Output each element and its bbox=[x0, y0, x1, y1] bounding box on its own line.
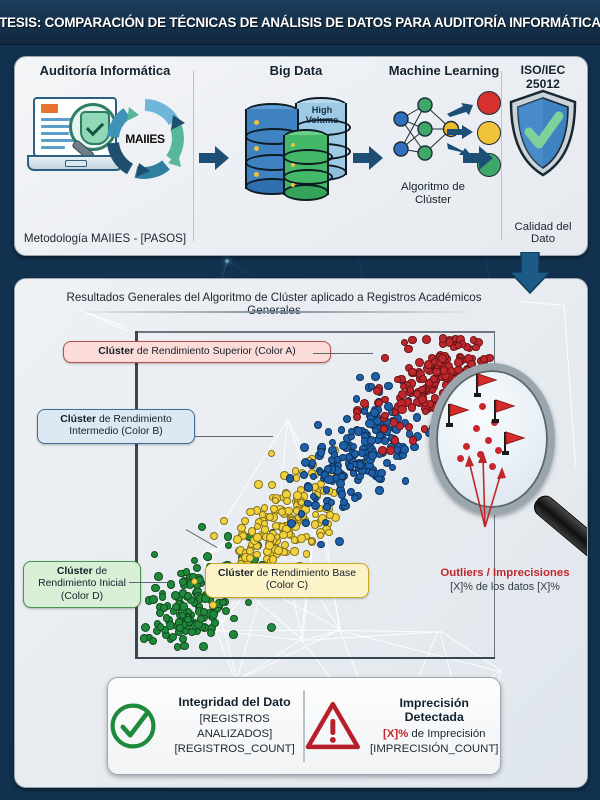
scatter-point bbox=[279, 531, 288, 540]
scatter-point bbox=[154, 572, 163, 581]
outliers-title: Outliers / Imprecisiones bbox=[425, 567, 585, 579]
scatter-point bbox=[409, 436, 417, 444]
scatter-point bbox=[375, 399, 383, 407]
scatter-point bbox=[404, 345, 413, 354]
process-flow-panel: Auditoría Informática bbox=[14, 56, 588, 256]
scatter-point bbox=[375, 486, 384, 495]
scatter-point bbox=[356, 473, 363, 480]
right-arrow-icon bbox=[463, 145, 493, 171]
scatter-point bbox=[220, 517, 228, 525]
results-panel: Resultados Generales del Algoritmo de Cl… bbox=[14, 278, 588, 788]
scatter-point bbox=[317, 448, 325, 456]
scatter-point bbox=[338, 473, 346, 481]
scatter-point bbox=[310, 493, 317, 500]
plot-axis-x bbox=[135, 657, 495, 660]
scatter-point bbox=[381, 354, 389, 362]
scatter-point bbox=[278, 508, 286, 516]
scatter-point bbox=[472, 344, 479, 351]
scatter-point bbox=[246, 508, 254, 516]
callout-bold: Clúster bbox=[60, 414, 96, 425]
flow-step-bigdata: Big Data High Volume bbox=[231, 63, 361, 249]
scatter-point bbox=[310, 473, 317, 480]
scatter-point bbox=[371, 372, 380, 381]
scatter-point bbox=[151, 584, 159, 592]
scatter-point bbox=[140, 634, 149, 643]
right-arrow-icon bbox=[353, 145, 383, 171]
callout-leader-b bbox=[195, 436, 273, 437]
scatter-point bbox=[356, 374, 364, 382]
scatter-point bbox=[198, 523, 206, 531]
scatter-point bbox=[171, 591, 180, 600]
scatter-point bbox=[179, 578, 187, 586]
integrity-title: Integridad del Dato bbox=[166, 695, 303, 709]
scatter-point bbox=[358, 449, 366, 457]
flow-step-heading: Big Data bbox=[231, 63, 361, 78]
scatter-point bbox=[480, 355, 488, 363]
scatter-point bbox=[200, 608, 208, 616]
scatter-point bbox=[267, 623, 276, 632]
scatter-point bbox=[149, 637, 157, 645]
check-circle-icon bbox=[108, 699, 158, 753]
callout-bold: Clúster bbox=[98, 346, 134, 357]
scatter-point bbox=[230, 615, 238, 623]
scatter-point bbox=[302, 519, 310, 527]
arrow-to-yellow-icon bbox=[447, 125, 473, 139]
scatter-point bbox=[311, 501, 320, 510]
scatter-point bbox=[396, 422, 404, 430]
integrity-line1: [REGISTROS ANALIZADOS] bbox=[166, 712, 303, 742]
maiies-label: MAIIES bbox=[103, 97, 187, 181]
scatter-point bbox=[184, 616, 191, 623]
scatter-point bbox=[229, 630, 238, 639]
callout-bold: Clúster bbox=[57, 566, 93, 577]
scatter-point bbox=[254, 523, 261, 530]
imprecision-suffix: de Imprecisión bbox=[408, 728, 485, 740]
page-title-bar: TESIS: COMPARACIÓN DE TÉCNICAS DE ANÁLIS… bbox=[0, 0, 600, 45]
flow-step-heading: Auditoría Informática bbox=[21, 63, 189, 78]
scatter-point bbox=[329, 439, 337, 447]
flow-step-heading: ISO/IEC 25012 bbox=[505, 63, 581, 91]
scatter-point bbox=[405, 423, 413, 431]
scatter-point bbox=[367, 436, 376, 445]
scatter-point bbox=[172, 603, 180, 611]
callout-cluster-a: Clúster de Rendimiento Superior (Color A… bbox=[63, 341, 331, 363]
flow-step-auditoria: Auditoría Informática bbox=[21, 63, 189, 249]
scatter-point bbox=[193, 564, 201, 572]
scatter-point bbox=[303, 550, 310, 557]
scatter-point bbox=[253, 533, 262, 542]
scatter-point bbox=[343, 415, 351, 423]
scatter-point bbox=[354, 427, 363, 436]
cluster-algorithm-label: Algoritmo de Clúster bbox=[385, 181, 481, 207]
scatter-point bbox=[268, 481, 276, 489]
flow-step-heading: Machine Learning bbox=[385, 63, 503, 78]
imprecision-title: Imprecisión Detectada bbox=[368, 696, 500, 724]
scatter-point bbox=[338, 426, 346, 434]
callout-bold: Clúster bbox=[218, 568, 254, 579]
flow-divider bbox=[501, 71, 502, 241]
scatter-point bbox=[254, 480, 263, 489]
scatter-point bbox=[339, 441, 348, 450]
scatter-point bbox=[340, 498, 348, 506]
scatter-point bbox=[141, 623, 150, 632]
summary-imprecision: Imprecisión Detectada [X]% de Imprecisió… bbox=[305, 678, 500, 774]
summary-integrity: Integridad del Dato [REGISTROS ANALIZADO… bbox=[108, 678, 303, 774]
scatter-point bbox=[402, 477, 409, 484]
scatter-point bbox=[246, 554, 254, 562]
scatter-point bbox=[398, 390, 407, 399]
flow-step-caption: Calidad del Dato bbox=[505, 221, 581, 245]
scatter-point bbox=[151, 551, 158, 558]
scatter-point bbox=[283, 497, 291, 505]
scatter-point bbox=[391, 436, 400, 445]
scatter-point bbox=[261, 504, 268, 511]
scatter-point bbox=[422, 335, 431, 344]
callout-rest: de Rendimiento Superior (Color A) bbox=[134, 346, 296, 357]
maiies-cycle-icon: MAIIES bbox=[103, 97, 187, 181]
scatter-point bbox=[408, 336, 417, 345]
scatter-point bbox=[224, 532, 232, 540]
scatter-point bbox=[309, 459, 316, 466]
arrow-to-red-icon bbox=[447, 103, 473, 117]
summary-panel: Integridad del Dato [REGISTROS ANALIZADO… bbox=[107, 677, 501, 775]
scatter-point bbox=[199, 642, 208, 651]
scatter-point bbox=[274, 546, 283, 555]
scatter-point bbox=[219, 599, 226, 606]
cluster-output-yellow bbox=[477, 121, 501, 145]
scatter-point bbox=[183, 568, 190, 575]
scatter-point bbox=[245, 599, 252, 606]
results-divider bbox=[71, 311, 479, 313]
scatter-point bbox=[323, 486, 330, 493]
scatter-point bbox=[314, 421, 322, 429]
scatter-point bbox=[268, 450, 275, 457]
scatter-point bbox=[317, 541, 324, 548]
scatter-point bbox=[160, 604, 168, 612]
scatter-point bbox=[323, 503, 330, 510]
high-volume-label: High Volume bbox=[299, 105, 345, 125]
scatter-point bbox=[222, 607, 230, 615]
scatter-point bbox=[290, 547, 298, 555]
outliers-subtitle: [X]% de los datos [X]% bbox=[425, 581, 585, 593]
scatter-point bbox=[335, 537, 344, 546]
scatter-point bbox=[394, 376, 401, 383]
flow-step-caption: Metodología MAIIES - [PASOS] bbox=[21, 232, 189, 245]
scatter-point bbox=[209, 610, 218, 619]
scatter-point bbox=[384, 382, 393, 391]
scatter-point bbox=[397, 405, 406, 414]
scatter-point bbox=[353, 395, 360, 402]
scatter-point bbox=[233, 535, 242, 544]
shield-check-icon bbox=[509, 89, 577, 177]
scatter-point bbox=[300, 443, 309, 452]
scatter-point bbox=[149, 595, 158, 604]
scatter-point bbox=[353, 413, 361, 421]
scatter-point bbox=[317, 532, 324, 539]
scatter-point bbox=[211, 619, 219, 627]
scatter-point bbox=[415, 358, 424, 367]
database-stack-icon: High Volume bbox=[239, 93, 359, 205]
scatter-point bbox=[157, 623, 164, 630]
cluster-output-red bbox=[477, 91, 501, 115]
callout-rest: de Rendimiento Base (Color C) bbox=[254, 568, 356, 591]
plot-axis-top bbox=[135, 331, 495, 333]
scatter-point bbox=[339, 454, 347, 462]
scatter-point bbox=[210, 532, 219, 541]
flow-divider bbox=[193, 71, 194, 241]
callout-leader-a bbox=[313, 353, 373, 354]
plot-axis-y bbox=[135, 331, 138, 659]
scatter-point bbox=[422, 408, 429, 415]
scatter-point bbox=[325, 529, 333, 537]
scatter-point bbox=[174, 643, 181, 650]
scatter-point bbox=[272, 522, 280, 530]
infographic-root: TESIS: COMPARACIÓN DE TÉCNICAS DE ANÁLIS… bbox=[0, 0, 600, 800]
callout-leader-d bbox=[129, 582, 169, 583]
down-arrow-icon bbox=[508, 252, 552, 294]
callout-cluster-b: Clúster de Rendimiento Intermedio (Color… bbox=[37, 409, 195, 444]
scatter-point bbox=[373, 387, 381, 395]
callout-cluster-c: Clúster de Rendimiento Base (Color C) bbox=[205, 563, 369, 598]
network-line bbox=[563, 305, 575, 466]
scatter-point bbox=[286, 474, 295, 483]
scatter-point bbox=[360, 399, 369, 408]
scatter-point bbox=[325, 428, 333, 436]
scatter-point bbox=[421, 425, 429, 433]
imprecision-line2: [IMPRECISIÓN_COUNT] bbox=[368, 742, 500, 757]
scatter-point bbox=[347, 463, 354, 470]
flow-step-iso: ISO/IEC 25012 Calidad del Dato bbox=[505, 63, 581, 249]
scatter-point bbox=[298, 510, 306, 518]
magnifier-flags-icon bbox=[429, 363, 555, 515]
scatter-point bbox=[261, 520, 268, 527]
scatter-point bbox=[159, 593, 166, 600]
scatter-point bbox=[270, 505, 278, 513]
scatter-point bbox=[253, 551, 260, 558]
scatter-point bbox=[400, 445, 409, 454]
integrity-line2: [REGISTROS_COUNT] bbox=[166, 742, 303, 757]
scatter-point bbox=[324, 475, 333, 484]
outlier-arrows-icon bbox=[439, 451, 529, 529]
scatter-point bbox=[166, 621, 175, 630]
imprecision-value: [X]% bbox=[383, 728, 408, 740]
scatter-point bbox=[292, 467, 299, 474]
scatter-point bbox=[380, 425, 388, 433]
callout-cluster-d: Clúster de Rendimiento Inicial (Color D) bbox=[23, 561, 141, 608]
scatter-point bbox=[438, 354, 447, 363]
scatter-point bbox=[304, 483, 313, 492]
scatter-point bbox=[419, 375, 427, 383]
scatter-point bbox=[351, 494, 359, 502]
scatter-point bbox=[455, 342, 462, 349]
warning-triangle-icon bbox=[305, 700, 361, 752]
scatter-point bbox=[413, 413, 422, 422]
page-title: TESIS: COMPARACIÓN DE TÉCNICAS DE ANÁLIS… bbox=[0, 15, 600, 30]
scatter-point bbox=[225, 542, 233, 550]
scatter-point bbox=[266, 533, 275, 542]
network-line bbox=[518, 301, 563, 306]
scatter-point bbox=[179, 635, 187, 643]
results-heading: Resultados Generales del Algoritmo de Cl… bbox=[39, 291, 509, 317]
scatter-point bbox=[197, 615, 205, 623]
scatter-point bbox=[297, 534, 306, 543]
scatter-point bbox=[408, 368, 417, 377]
right-arrow-icon bbox=[199, 145, 229, 171]
scatter-point bbox=[300, 471, 307, 478]
scatter-point bbox=[237, 524, 246, 533]
scatter-point bbox=[386, 446, 395, 455]
scatter-point bbox=[377, 469, 385, 477]
